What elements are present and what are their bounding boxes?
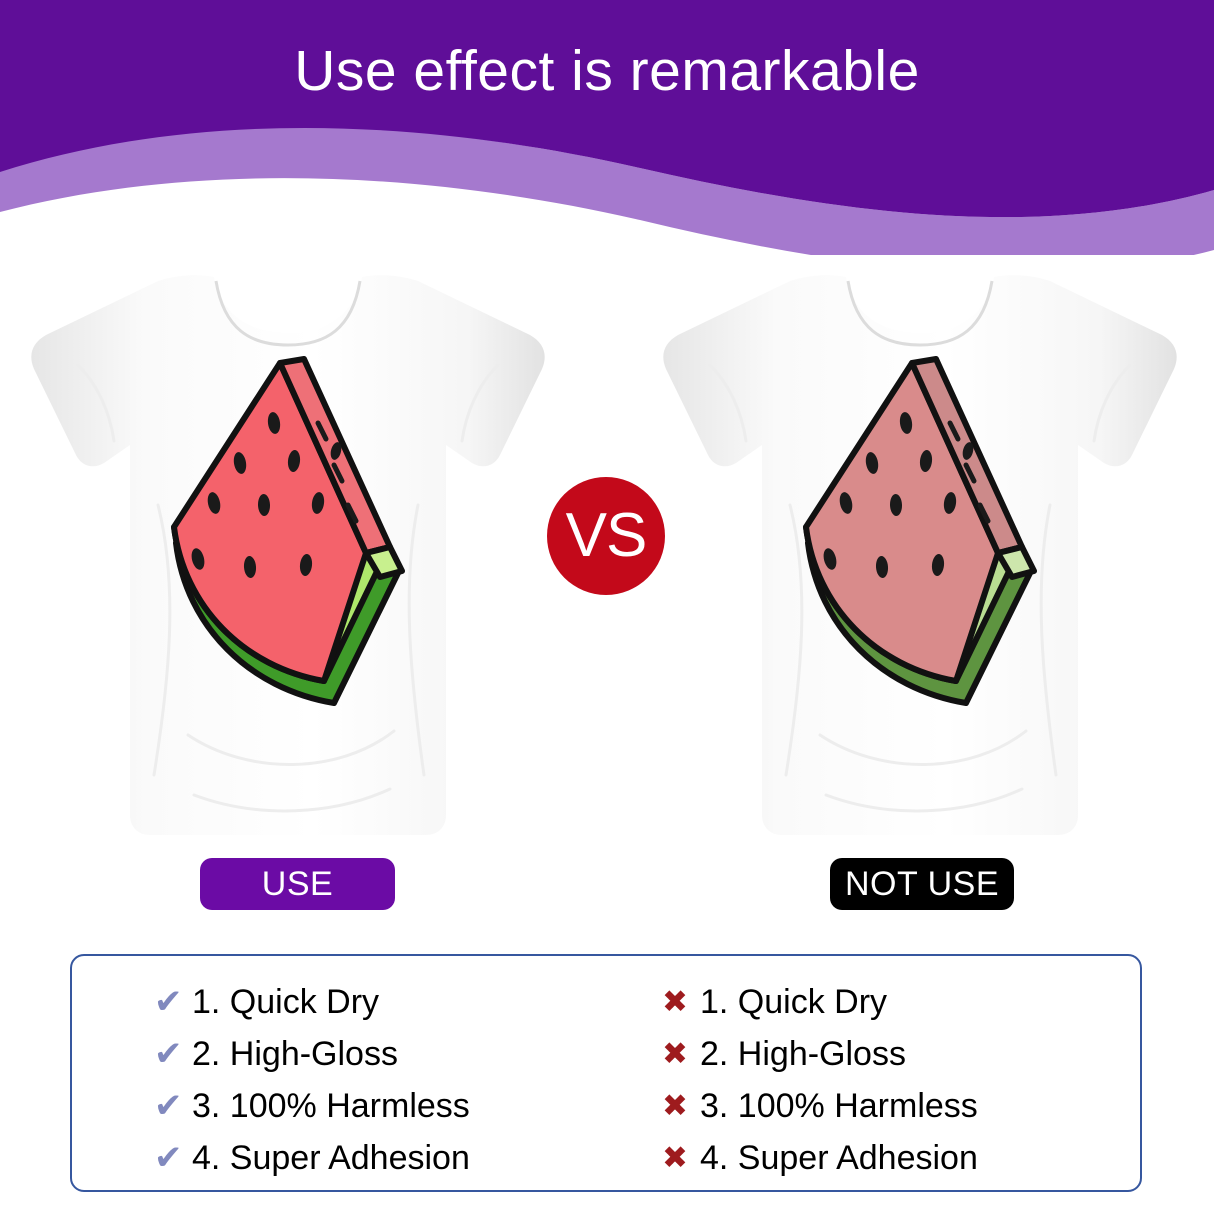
feature-row: ✔ 4. Super Adhesion	[154, 1134, 470, 1182]
shirt-panel-not-use	[650, 255, 1190, 875]
feature-comparison-box: ✔ 1. Quick Dry ✔ 2. High-Gloss ✔ 3. 100%…	[70, 954, 1142, 1192]
vs-badge-label: VS	[566, 505, 647, 567]
promo-comparison-page: Use effect is remarkable	[0, 0, 1214, 1214]
cross-icon: ✖	[662, 1139, 700, 1177]
verdict-badge-not-use: NOT USE	[830, 858, 1014, 910]
feature-label: 1. Quick Dry	[700, 983, 887, 1021]
vs-badge: VS	[547, 477, 665, 595]
feature-label: 1. Quick Dry	[192, 983, 379, 1021]
feature-row: ✖ 3. 100% Harmless	[662, 1082, 978, 1130]
feature-label: 2. High-Gloss	[700, 1035, 906, 1073]
verdict-badge-use: USE	[200, 858, 395, 910]
feature-row: ✖ 2. High-Gloss	[662, 1030, 978, 1078]
comparison-area: VS	[0, 255, 1214, 935]
feature-row: ✔ 2. High-Gloss	[154, 1030, 470, 1078]
feature-row: ✔ 1. Quick Dry	[154, 978, 470, 1026]
feature-row: ✖ 1. Quick Dry	[662, 978, 978, 1026]
cross-icon: ✖	[662, 1035, 700, 1073]
feature-label: 4. Super Adhesion	[700, 1139, 978, 1177]
shirt-panel-use	[18, 255, 558, 875]
tshirt-graphic-not-use	[650, 255, 1190, 875]
feature-list-use: ✔ 1. Quick Dry ✔ 2. High-Gloss ✔ 3. 100%…	[154, 978, 470, 1186]
feature-label: 4. Super Adhesion	[192, 1139, 470, 1177]
cross-icon: ✖	[662, 1087, 700, 1125]
tshirt-graphic-use	[18, 255, 558, 875]
check-icon: ✔	[154, 983, 192, 1021]
cross-icon: ✖	[662, 983, 700, 1021]
check-icon: ✔	[154, 1035, 192, 1073]
feature-label: 2. High-Gloss	[192, 1035, 398, 1073]
feature-row: ✔ 3. 100% Harmless	[154, 1082, 470, 1130]
feature-row: ✖ 4. Super Adhesion	[662, 1134, 978, 1182]
verdict-label-use: USE	[262, 867, 333, 901]
feature-label: 3. 100% Harmless	[700, 1087, 978, 1125]
feature-list-not-use: ✖ 1. Quick Dry ✖ 2. High-Gloss ✖ 3. 100%…	[662, 978, 978, 1186]
page-title: Use effect is remarkable	[0, 36, 1214, 106]
check-icon: ✔	[154, 1087, 192, 1125]
verdict-label-not-use: NOT USE	[845, 867, 999, 901]
check-icon: ✔	[154, 1139, 192, 1177]
feature-label: 3. 100% Harmless	[192, 1087, 470, 1125]
header-banner: Use effect is remarkable	[0, 0, 1214, 255]
